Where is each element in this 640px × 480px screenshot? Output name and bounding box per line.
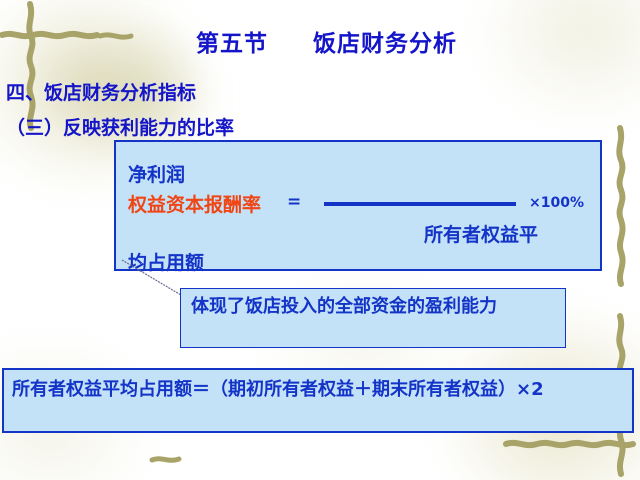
formula-denominator-line2: 均占用额: [128, 248, 204, 275]
slide-canvas: 第五节 饭店财务分析 四、饭店财务分析指标 （三）反映获利能力的比率 净利润 权…: [0, 0, 640, 480]
equity-average-formula-text: 所有者权益平均占用额＝（期初所有者权益＋期末所有者权益）×2: [12, 376, 630, 403]
formula-fraction-bar: [324, 202, 516, 206]
plant-branch-top-left-horizontal: [2, 34, 97, 36]
explanation-box: 体现了饭店投入的全部资金的盈利能力: [180, 288, 566, 348]
formula-denominator-line1: 所有者权益平: [424, 220, 538, 247]
plant-branch-bottom-right-horizontal: [506, 443, 633, 445]
equity-average-formula-box: 所有者权益平均占用额＝（期初所有者权益＋期末所有者权益）×2: [2, 368, 634, 433]
background-wash-top-right: [470, 0, 640, 130]
section-heading-four: 四、饭店财务分析指标: [6, 78, 196, 105]
formula-box: 净利润 权益资本报酬率 = ×100% 所有者权益平 均占用额: [114, 140, 602, 271]
page-title: 第五节 饭店财务分析: [196, 24, 457, 58]
formula-multiplier: ×100%: [529, 195, 584, 211]
explanation-text: 体现了饭店投入的全部资金的盈利能力: [191, 294, 557, 319]
formula-numerator: 净利润: [128, 160, 185, 187]
subsection-heading-three: （三）反映获利能力的比率: [6, 113, 234, 140]
plant-branch-bottom-left: [152, 459, 179, 461]
plant-stem-right-vertical: [619, 128, 622, 284]
formula-label-roe: 权益资本报酬率: [128, 190, 261, 217]
plant-stem-top-left-vertical: [29, 4, 32, 128]
formula-equals-sign: =: [287, 192, 301, 212]
plant-branch-top-left-horizontal-2: [100, 35, 131, 37]
